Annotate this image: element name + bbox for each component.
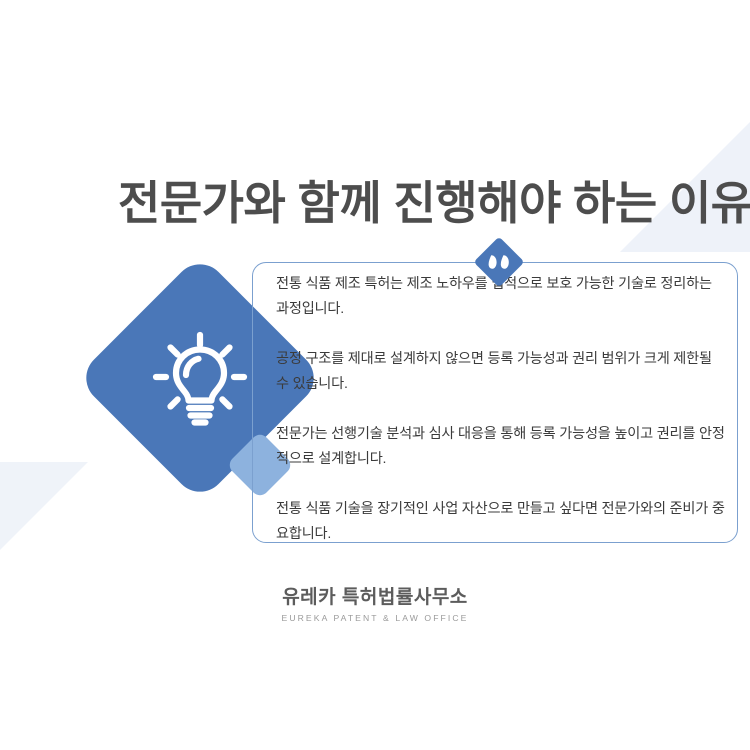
page-title: 전문가와 함께 진행해야 하는 이유 xyxy=(118,167,750,233)
footer-logo: 유레카 특허법률사무소 EUREKA PATENT & LAW OFFICE xyxy=(0,586,750,623)
quotation-mark-icon xyxy=(481,244,517,280)
footer-logo-english: EUREKA PATENT & LAW OFFICE xyxy=(0,613,750,623)
footer-logo-korean: 유레카 특허법률사무소 xyxy=(0,586,750,610)
card-paragraph: 공정 구조를 제대로 설계하지 않으면 등록 가능성과 권리 범위가 크게 제한… xyxy=(276,347,728,397)
corner-triangle-bottom-left-icon xyxy=(0,462,88,550)
card-paragraph: 전문가는 선행기술 분석과 심사 대응을 통해 등록 가능성을 높이고 권리를 … xyxy=(276,422,728,472)
card-paragraph: 전통 식품 기술을 장기적인 사업 자산으로 만들고 싶다면 전문가와의 준비가… xyxy=(276,497,728,547)
card-body-text: 전통 식품 제조 특허는 제조 노하우를 법적으로 보호 가능한 기술로 정리하… xyxy=(276,272,728,547)
slide-canvas: 전문가와 함께 진행해야 하는 이유 xyxy=(0,0,750,750)
